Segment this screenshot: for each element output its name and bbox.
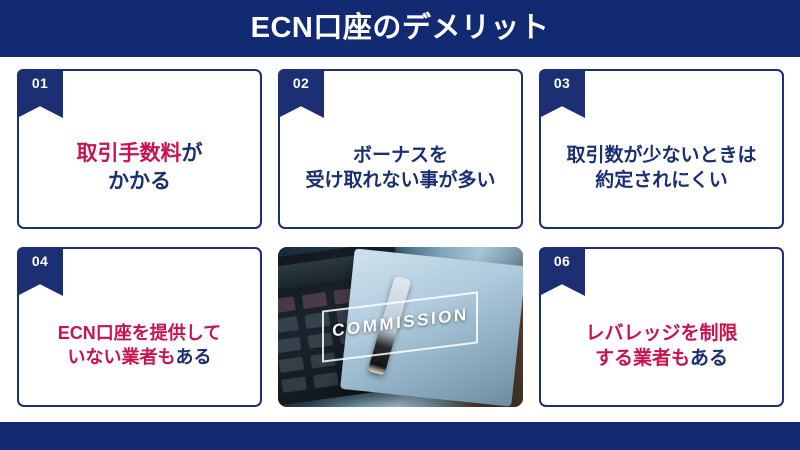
card-text-segment: ある [690, 348, 728, 369]
ribbon-number: 06 [554, 254, 570, 268]
card-text-segment: する業者も [595, 348, 690, 369]
card-text-segment: ECN口座を提供して [58, 323, 221, 343]
card-text-segment: いない業者も [68, 347, 176, 367]
ribbon-badge-04: 04 [17, 247, 63, 296]
card-02[interactable]: 02 ボーナスを 受け取れない事が多い [278, 69, 523, 229]
ribbon-badge-03: 03 [539, 69, 585, 118]
card-text-line: 約定されにくい [595, 168, 728, 193]
commission-photo: COMMISSION [278, 247, 523, 407]
card-text-line: 受け取れない事が多い [305, 168, 495, 193]
card-text-segment: ボーナスを [353, 145, 448, 166]
card-text-segment: かかる [108, 170, 171, 193]
ribbon-badge-02: 02 [278, 69, 324, 118]
card-text-line: 取引手数料が [77, 140, 203, 168]
ribbon-badge-06: 06 [539, 247, 585, 296]
card-text-segment: 取引数が少ないときは [566, 145, 756, 166]
ribbon-badge-01: 01 [17, 69, 63, 118]
card-text-segment: ある [176, 347, 212, 367]
card-text-line: ボーナスを [353, 143, 448, 168]
footer-bar [0, 422, 800, 450]
ribbon-number: 04 [32, 254, 48, 268]
card-body-03: 取引数が少ないときは 約定されにくい [541, 115, 782, 221]
card-text-line: いない業者もある [68, 346, 212, 370]
card-text-segment: 取引手数料 [77, 142, 182, 165]
card-body-02: ボーナスを 受け取れない事が多い [280, 115, 521, 221]
ribbon-number: 02 [293, 76, 309, 90]
card-text-segment: 受け取れない事が多い [305, 170, 495, 191]
card-06[interactable]: 06 レバレッジを制限 する業者もある [539, 247, 784, 407]
card-text-line: ECN口座を提供して [58, 322, 221, 346]
card-03[interactable]: 03 取引数が少ないときは 約定されにくい [539, 69, 784, 229]
ribbon-number: 01 [32, 76, 48, 90]
card-text-line: 取引数が少ないときは [566, 143, 756, 168]
card-text-line: レバレッジを制限 [585, 321, 737, 346]
card-04[interactable]: 04 ECN口座を提供して いない業者もある [17, 247, 262, 407]
card-text-segment: 約定されにくい [595, 170, 728, 191]
card-text-line: する業者もある [595, 346, 728, 371]
card-01[interactable]: 01 取引手数料が かかる [17, 69, 262, 229]
header-bar: ECN口座のデメリット [0, 0, 800, 57]
card-body-06: レバレッジを制限 する業者もある [541, 293, 782, 399]
cards-grid: 01 取引手数料が かかる 02 ボーナスを 受け取れない事が多い 03 取引数… [17, 69, 783, 409]
card-body-01: 取引手数料が かかる [19, 115, 260, 221]
page-title: ECN口座のデメリット [251, 14, 550, 43]
card-text-line: かかる [108, 168, 171, 196]
card-text-segment: レバレッジを制限 [585, 323, 737, 344]
card-text-segment: が [182, 142, 203, 165]
slide-root: ECN口座のデメリット 01 取引手数料が かかる 02 ボーナスを 受け取れな… [0, 0, 800, 450]
card-body-04: ECN口座を提供して いない業者もある [19, 293, 260, 399]
ribbon-number: 03 [554, 76, 570, 90]
